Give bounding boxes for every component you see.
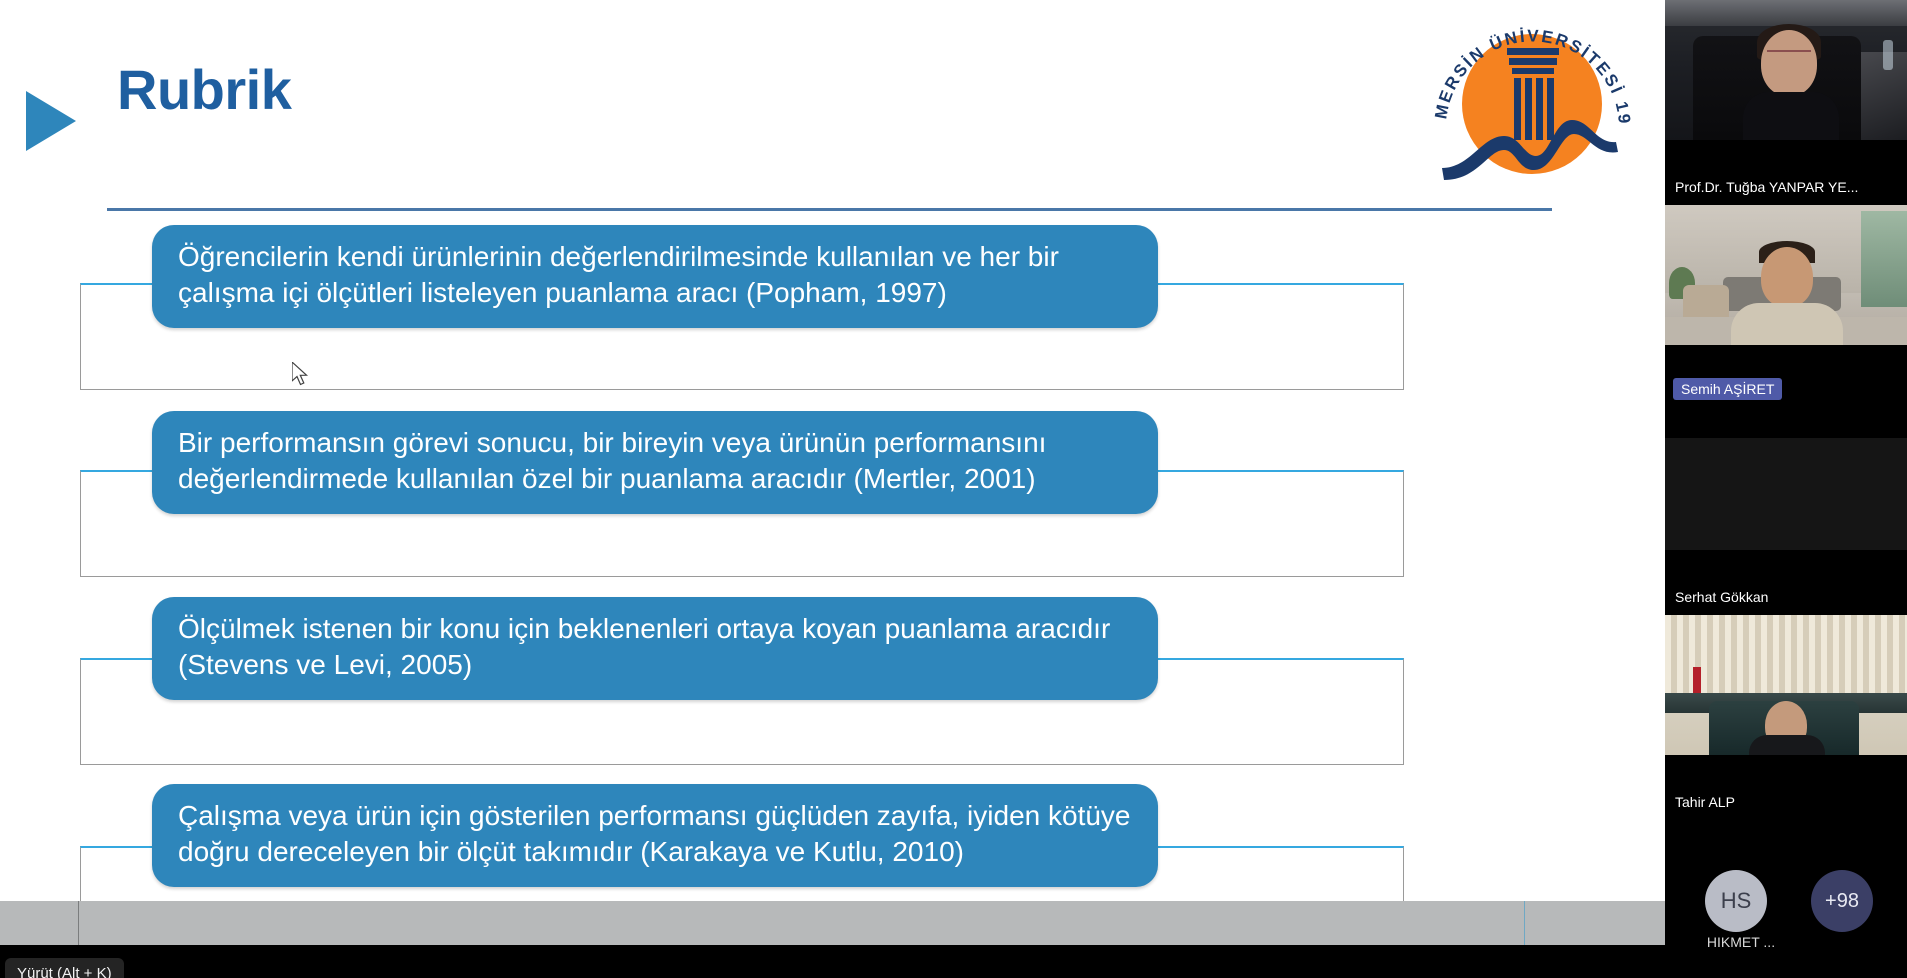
- callout-text: Ölçülmek istenen bir konu için beklenenl…: [178, 613, 1110, 680]
- meeting-screen: Rubrik MERSİN ÜNİVERSİTES: [0, 0, 1907, 978]
- callout-card: Bir performansın görevi sonucu, bir bire…: [152, 411, 1158, 514]
- video-tile[interactable]: Semih AŞİRET: [1665, 205, 1907, 410]
- video-feed-camera-off: [1665, 410, 1907, 550]
- video-feed: [1665, 0, 1907, 140]
- avatar[interactable]: HS: [1705, 870, 1767, 932]
- overflow-count-label: +98: [1825, 890, 1859, 913]
- callout-card: Ölçülmek istenen bir konu için beklenenl…: [152, 597, 1158, 700]
- triangle-play-icon: [26, 91, 76, 151]
- callout-text: Öğrencilerin kendi ürünlerinin değerlend…: [178, 241, 1059, 308]
- avatar-initials: HS: [1721, 888, 1752, 914]
- callout-text: Bir performansın görevi sonucu, bir bire…: [178, 427, 1046, 494]
- video-feed: [1665, 615, 1907, 755]
- callout-text: Çalışma veya ürün için gösterilen perfor…: [178, 800, 1131, 867]
- video-tile[interactable]: Prof.Dr. Tuğba YANPAR YE...: [1665, 0, 1907, 205]
- tooltip-run: Yürüt (Alt + K): [5, 958, 124, 978]
- video-tile[interactable]: Serhat Gökkan: [1665, 410, 1907, 615]
- participant-name: Tahir ALP: [1675, 794, 1735, 810]
- page-title: Rubrik: [117, 57, 291, 122]
- video-tile[interactable]: Tahir ALP: [1665, 615, 1907, 820]
- slide-header: Rubrik: [0, 55, 1665, 165]
- strip-divider: [1524, 901, 1525, 945]
- participant-video-rail[interactable]: Prof.Dr. Tuğba YANPAR YE... Semih AŞİRET…: [1665, 0, 1907, 978]
- participant-avatar-strip[interactable]: HS HIKMET ... +98: [1665, 820, 1907, 978]
- callout-card: Çalışma veya ürün için gösterilen perfor…: [152, 784, 1158, 887]
- avatar-overflow-count[interactable]: +98: [1811, 870, 1873, 932]
- participant-name: Serhat Gökkan: [1675, 589, 1768, 605]
- shared-slide: Rubrik MERSİN ÜNİVERSİTES: [0, 0, 1665, 945]
- participant-name: Prof.Dr. Tuğba YANPAR YE...: [1675, 179, 1858, 195]
- avatar-label: HIKMET ...: [1699, 934, 1783, 950]
- mersin-universitesi-logo: MERSİN ÜNİVERSİTESİ 1992: [1420, 0, 1645, 200]
- slide-bottom-strip: [0, 901, 1665, 945]
- video-feed: [1665, 205, 1907, 345]
- participant-name-active-speaker: Semih AŞİRET: [1673, 378, 1782, 400]
- strip-divider: [78, 901, 79, 945]
- title-divider: [107, 208, 1552, 211]
- callout-card: Öğrencilerin kendi ürünlerinin değerlend…: [152, 225, 1158, 328]
